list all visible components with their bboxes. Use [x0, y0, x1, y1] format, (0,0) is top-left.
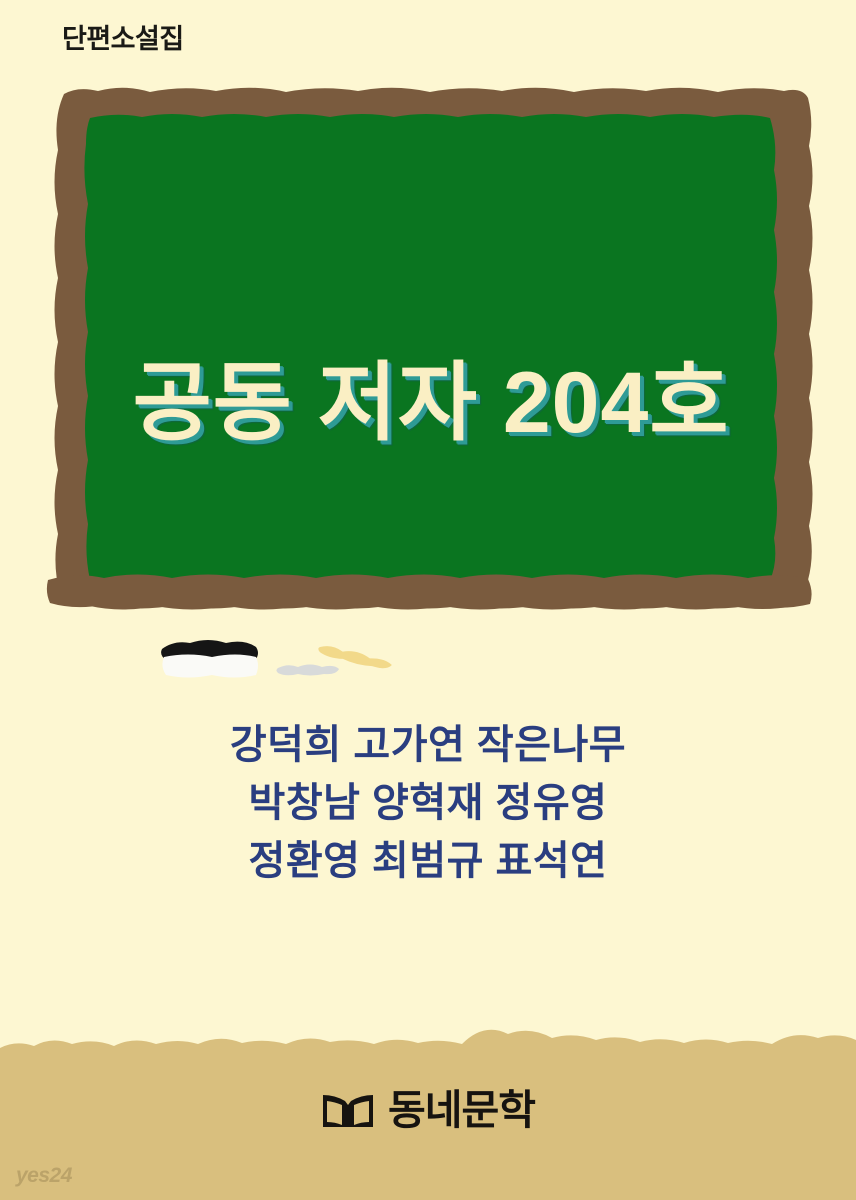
board-surface-shape — [84, 114, 777, 584]
white-chalk-icon — [274, 661, 342, 677]
book-cover: 단편소설집 공동 저자 204호 강덕희 고가연 작은나무 — [0, 0, 856, 1200]
author-line: 박창남 양혁재 정유영 — [0, 774, 856, 832]
author-line: 정환영 최범규 표석연 — [0, 832, 856, 890]
chalk-tray-shape — [47, 575, 812, 609]
book-title: 공동 저자 204호 — [46, 360, 816, 446]
author-list: 강덕희 고가연 작은나무 박창남 양혁재 정유영 정환영 최범규 표석연 — [0, 716, 856, 890]
open-book-icon — [321, 1091, 375, 1131]
category-label: 단편소설집 — [62, 26, 184, 53]
chalkboard-graphic — [46, 82, 816, 622]
eraser-icon — [156, 635, 264, 679]
publisher-logo: 동네문학 — [0, 1090, 856, 1131]
chalkboard: 공동 저자 204호 — [46, 82, 816, 622]
watermark: yes24 — [16, 1165, 72, 1186]
author-line: 강덕희 고가연 작은나무 — [0, 716, 856, 774]
board-frame-shape — [55, 88, 813, 610]
publisher-name: 동네문학 — [388, 1090, 535, 1131]
